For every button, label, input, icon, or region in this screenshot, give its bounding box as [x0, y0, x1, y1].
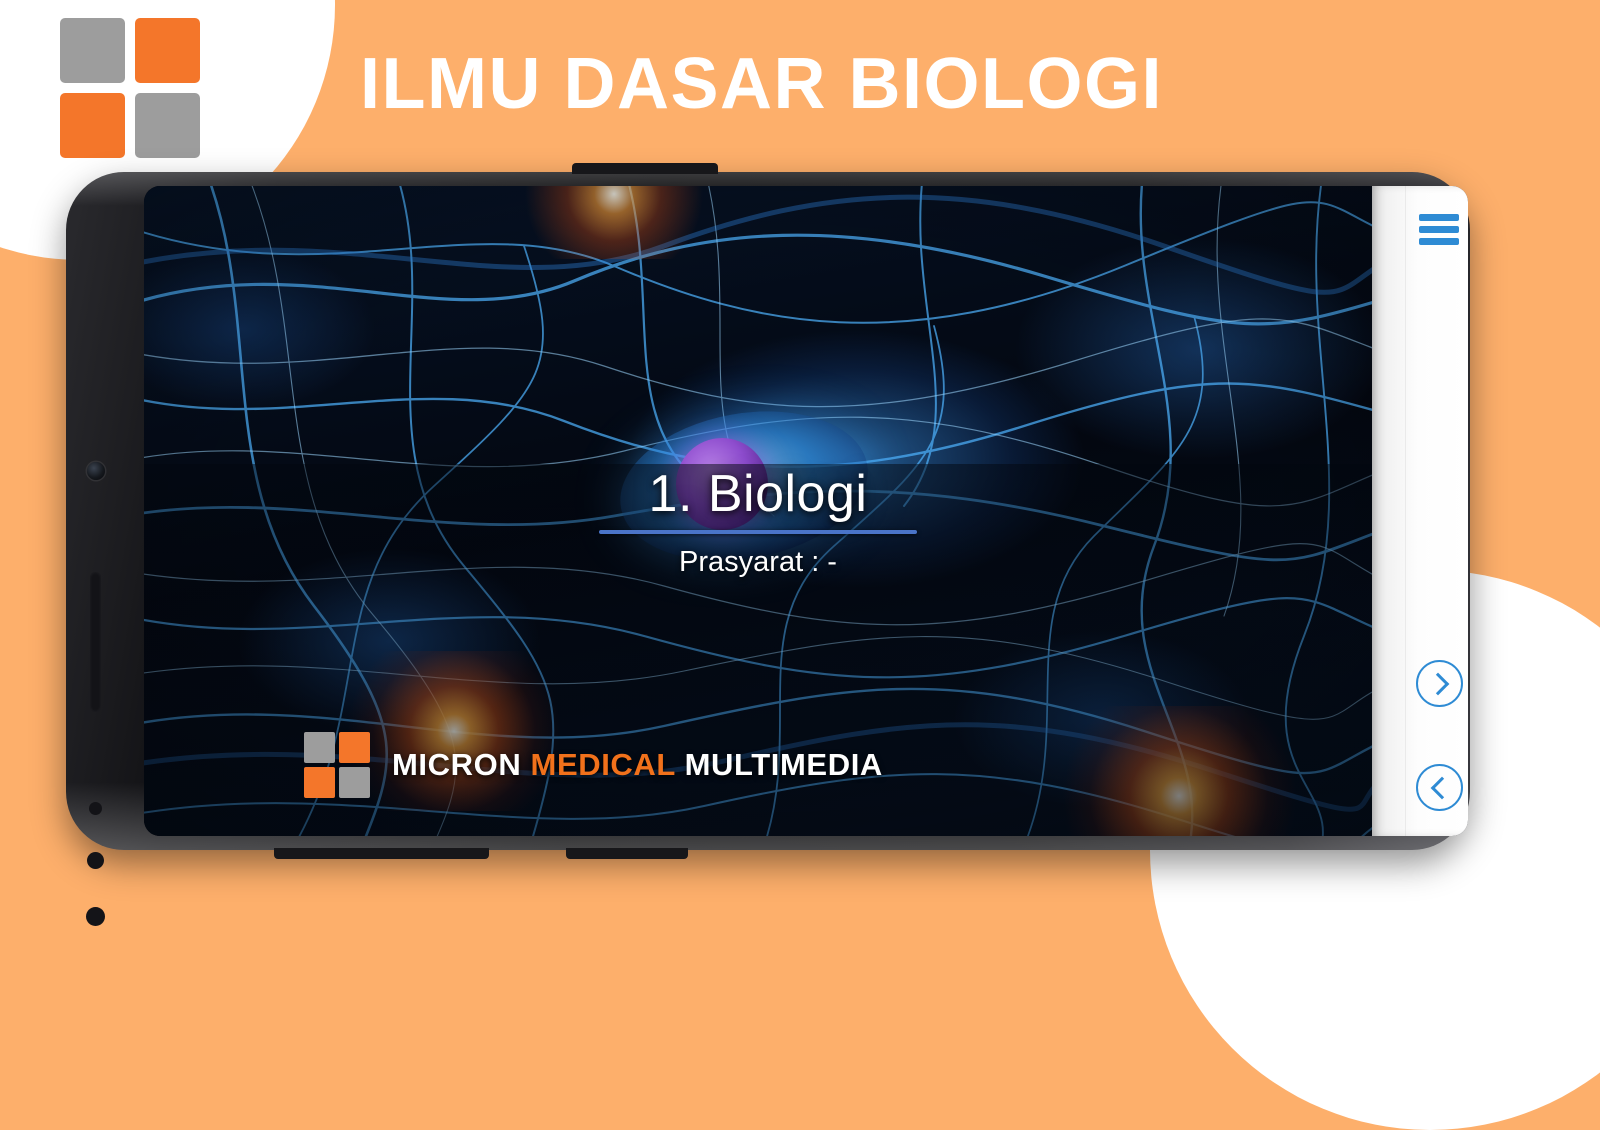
phone-bottom-button-right — [566, 848, 688, 859]
nav-panel-seam — [1405, 186, 1406, 836]
phone-earpiece-speaker — [90, 572, 101, 712]
page-title: ILMU DASAR BIOLOGI — [360, 48, 1163, 120]
logo-tile-top-left — [60, 18, 125, 83]
phone-mockup: 1. Biologi Prasyarat : - MICRON MEDICAL … — [66, 172, 1470, 850]
phone-front-camera — [87, 462, 105, 480]
chevron-left-icon — [1430, 776, 1453, 799]
brand-logo-tile-top-left — [304, 732, 335, 763]
logo-tile-top-right — [135, 18, 200, 83]
brand-logo-tile-top-right — [339, 732, 370, 763]
chevron-right-icon — [1426, 672, 1449, 695]
brand-logo-tile-bottom-right — [339, 767, 370, 798]
hamburger-bar-3 — [1419, 238, 1459, 245]
phone-sensor-dot-b — [87, 852, 104, 869]
logo-tile-bottom-right — [135, 93, 200, 158]
brand-word-medical: MEDICAL — [531, 747, 676, 782]
brand-logo — [304, 732, 370, 798]
phone-sensor-dot-c — [86, 907, 105, 926]
phone-screen: 1. Biologi Prasyarat : - MICRON MEDICAL … — [144, 186, 1468, 836]
brand-logo-tile-bottom-left — [304, 767, 335, 798]
nav-panel — [1372, 186, 1468, 836]
brand-word-micron: MICRON — [392, 747, 521, 782]
next-button[interactable] — [1416, 660, 1463, 707]
hamburger-bar-2 — [1419, 226, 1459, 233]
brand-word-multimedia: MULTIMEDIA — [685, 747, 883, 782]
hamburger-menu-icon[interactable] — [1419, 214, 1459, 245]
logo-tile-bottom-left — [60, 93, 125, 158]
phone-sensor-dot-a — [89, 802, 102, 815]
header-logo — [60, 18, 200, 158]
brand-text: MICRON MEDICAL MULTIMEDIA — [392, 747, 883, 783]
prev-button[interactable] — [1416, 764, 1463, 811]
hamburger-bar-1 — [1419, 214, 1459, 221]
phone-top-button — [572, 163, 718, 174]
phone-bottom-button-left — [274, 848, 489, 859]
brand-lockup: MICRON MEDICAL MULTIMEDIA — [304, 732, 883, 798]
